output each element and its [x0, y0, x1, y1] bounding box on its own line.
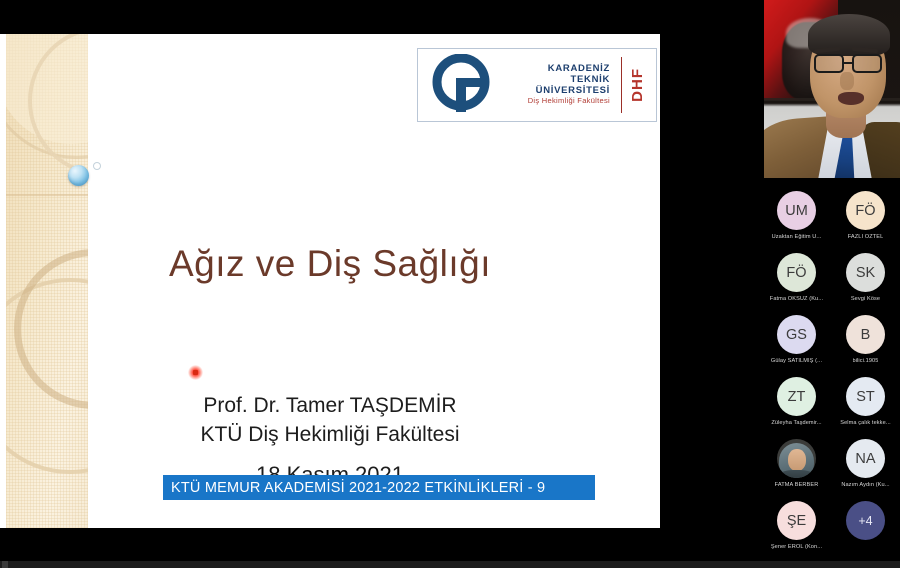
participant-tile[interactable]: FÖ FAZLI ÖZTEL [831, 188, 900, 250]
avatar: SK [846, 253, 885, 292]
participant-name: Uzaktan Eğitim U... [772, 234, 822, 240]
speaker-nose [840, 72, 854, 90]
participant-name: Fatma OKSÜZ (Ku... [770, 296, 823, 302]
participant-tile[interactable]: +4 [831, 498, 900, 560]
avatar: UM [777, 191, 816, 230]
avatar: NA [846, 439, 885, 478]
laser-pointer-dot [188, 365, 203, 380]
participant-name: bilici.1905 [853, 358, 879, 364]
participant-row: GS Gülay SATILMIŞ (... B bilici.1905 [762, 312, 900, 374]
logo-line-3: Diş Hekimliği Fakültesi [496, 97, 610, 105]
participant-tile[interactable]: FATMA BERBER [762, 436, 831, 498]
ktu-emblem-icon [426, 54, 496, 116]
logo-text-block: KARADENİZ TEKNİK ÜNİVERSİTESİ Diş Hekiml… [496, 64, 614, 105]
avatar: GS [777, 315, 816, 354]
shared-slide[interactable]: KARADENİZ TEKNİK ÜNİVERSİTESİ Diş Hekiml… [0, 34, 660, 528]
avatar: ST [846, 377, 885, 416]
participant-name: FAZLI ÖZTEL [848, 234, 884, 240]
participant-row: FÖ Fatma OKSÜZ (Ku... SK Sevgi Köse [762, 250, 900, 312]
active-speaker-video-tile[interactable] [764, 0, 900, 178]
participant-name: Şener EROL (Kon... [771, 544, 822, 550]
participant-tile[interactable]: FÖ Fatma OKSÜZ (Ku... [762, 250, 831, 312]
participant-list: UM Uzaktan Eğitim U... FÖ FAZLI ÖZTEL FÖ… [762, 188, 900, 560]
participant-name: FATMA BERBER [775, 482, 819, 488]
blue-sphere-ornament [68, 165, 89, 186]
slide-banner: KTÜ MEMUR AKADEMİSİ 2021-2022 ETKİNLİKLE… [163, 475, 595, 500]
university-logo: KARADENİZ TEKNİK ÜNİVERSİTESİ Diş Hekiml… [417, 48, 657, 122]
glasses-icon [814, 54, 888, 74]
participant-name: Gülay SATILMIŞ (... [771, 358, 822, 364]
participant-name: Sevgi Köse [851, 296, 880, 302]
meeting-stage: KARADENİZ TEKNİK ÜNİVERSİTESİ Diş Hekiml… [0, 0, 900, 568]
participants-rail: UM Uzaktan Eğitim U... FÖ FAZLI ÖZTEL FÖ… [762, 0, 900, 568]
participant-tile[interactable]: GS Gülay SATILMIŞ (... [762, 312, 831, 374]
participant-tile[interactable]: UM Uzaktan Eğitim U... [762, 188, 831, 250]
participant-tile[interactable]: ŞE Şener EROL (Kon... [762, 498, 831, 560]
taskbar [0, 561, 900, 568]
decor-divider [6, 194, 88, 196]
participant-row: FATMA BERBER NA Nazım Aydın (Ku... [762, 436, 900, 498]
logo-line-2: TEKNİK ÜNİVERSİTESİ [496, 75, 610, 96]
avatar: FÖ [846, 191, 885, 230]
participant-row: UM Uzaktan Eğitim U... FÖ FAZLI ÖZTEL [762, 188, 900, 250]
participant-name: Selma çalık tekke... [840, 420, 891, 426]
avatar: ŞE [777, 501, 816, 540]
participant-row: ŞE Şener EROL (Kon... +4 [762, 498, 900, 560]
avatar: B [846, 315, 885, 354]
avatar-photo [777, 439, 816, 478]
speaker-mouth [838, 92, 864, 105]
taskbar-grip [2, 561, 8, 568]
participant-tile[interactable]: ST Selma çalık tekke... [831, 374, 900, 436]
slide-presenter: Prof. Dr. Tamer TAŞDEMİR KTÜ Diş Hekimli… [0, 392, 660, 450]
more-participants-badge[interactable]: +4 [846, 501, 885, 540]
participant-tile[interactable]: ZT Züleyha Taşdemir... [762, 374, 831, 436]
presenter-name: Prof. Dr. Tamer TAŞDEMİR [0, 392, 660, 421]
participant-tile[interactable]: SK Sevgi Köse [831, 250, 900, 312]
participant-row: ZT Züleyha Taşdemir... ST Selma çalık te… [762, 374, 900, 436]
logo-divider [621, 57, 622, 113]
avatar: ZT [777, 377, 816, 416]
avatar: FÖ [777, 253, 816, 292]
participant-tile[interactable]: B bilici.1905 [831, 312, 900, 374]
slide-title: Ağız ve Diş Sağlığı [0, 243, 660, 285]
small-circle-ornament [93, 162, 101, 170]
participant-tile[interactable]: NA Nazım Aydın (Ku... [831, 436, 900, 498]
participant-name: Züleyha Taşdemir... [771, 420, 821, 426]
presenter-affiliation: KTÜ Diş Hekimliği Fakültesi [0, 421, 660, 450]
logo-dhf-vertical: DHF [629, 68, 646, 102]
participant-name: Nazım Aydın (Ku... [841, 482, 889, 488]
